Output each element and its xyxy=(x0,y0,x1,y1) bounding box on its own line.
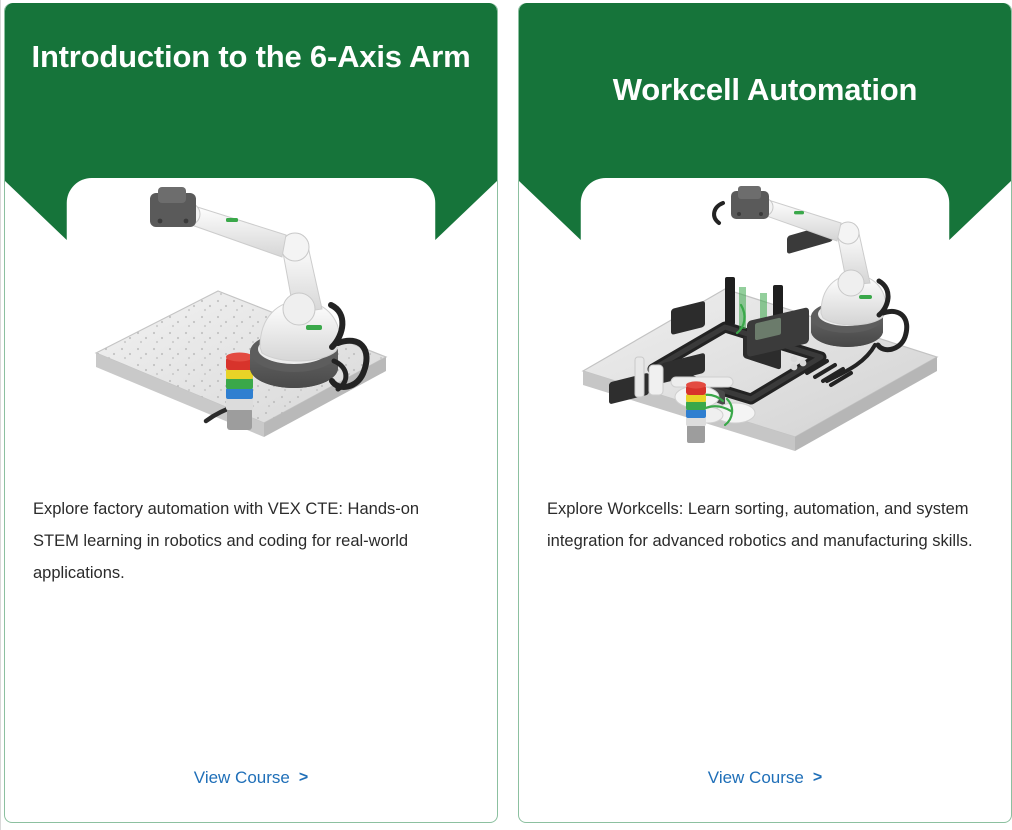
card-title: Workcell Automation xyxy=(537,3,993,178)
robot-end-effector xyxy=(150,187,196,227)
robot-end-effector xyxy=(731,186,769,219)
card-title: Introduction to the 6-Axis Arm xyxy=(23,3,479,178)
card-footer: View Course > xyxy=(519,768,1011,822)
view-course-link[interactable]: View Course > xyxy=(708,768,822,788)
view-course-label: View Course xyxy=(194,768,290,788)
course-image-6-axis-arm xyxy=(5,185,497,453)
course-image-workcell xyxy=(519,185,1011,453)
chevron-right-icon: > xyxy=(299,770,308,786)
course-card-workcell-automation[interactable]: Workcell Automation xyxy=(518,3,1012,823)
course-card-grid: Introduction to the 6-Axis Arm xyxy=(4,3,1012,830)
course-card-6-axis-arm[interactable]: Introduction to the 6-Axis Arm xyxy=(4,3,498,823)
robot-arm-illustration xyxy=(86,185,416,453)
view-course-link[interactable]: View Course > xyxy=(194,768,308,788)
chevron-right-icon: > xyxy=(813,770,822,786)
view-course-label: View Course xyxy=(708,768,804,788)
card-title-text: Introduction to the 6-Axis Arm xyxy=(32,37,471,78)
course-catalog-page: Introduction to the 6-Axis Arm xyxy=(0,0,1012,830)
course-description: Explore factory automation with VEX CTE:… xyxy=(5,453,497,768)
course-description: Explore Workcells: Learn sorting, automa… xyxy=(519,453,1011,768)
card-footer: View Course > xyxy=(5,768,497,822)
card-title-text: Workcell Automation xyxy=(613,70,918,111)
workcell-illustration xyxy=(575,185,955,453)
stack-light-tower xyxy=(226,353,253,431)
stack-light-tower xyxy=(686,381,706,443)
